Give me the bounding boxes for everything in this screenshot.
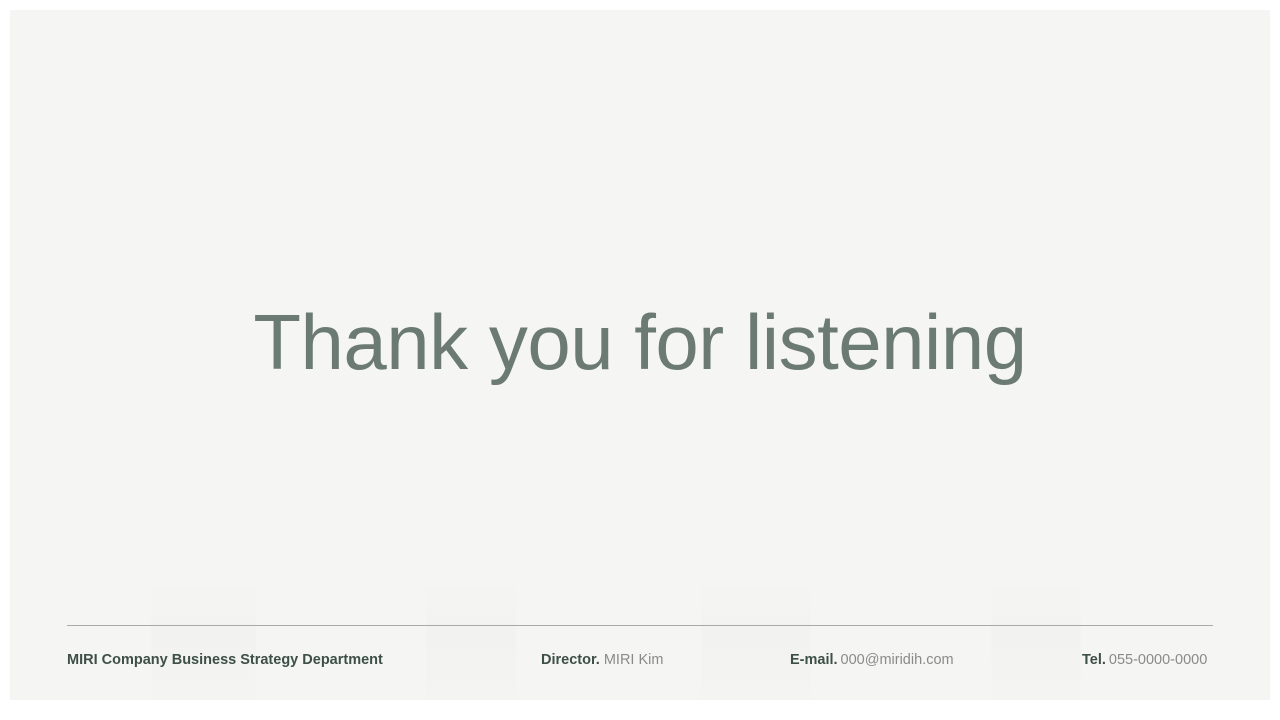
footer-organization-label: MIRI Company Business Strategy Departmen… [67,652,383,668]
footer-director-value: MIRI Kim [604,652,664,668]
footer-contact-row: MIRI Company Business Strategy Departmen… [67,647,1213,673]
background-pattern-decoration [10,580,1270,700]
slide-headline: Thank you for listening [10,302,1270,384]
footer-organization: MIRI Company Business Strategy Departmen… [67,647,383,673]
footer-tel: Tel.055-0000-0000 [1082,647,1207,673]
footer-email: E-mail.000@miridih.com [790,647,954,673]
footer-director-label: Director. [541,652,600,668]
slide-frame: Thank you for listening MIRI Company Bus… [0,0,1280,720]
footer-email-label: E-mail. [790,652,838,668]
footer-divider [67,625,1213,626]
footer-tel-label: Tel. [1082,652,1106,668]
footer-tel-value: 055-0000-0000 [1109,652,1207,668]
footer-director: Director.MIRI Kim [541,647,663,673]
footer-email-value[interactable]: 000@miridih.com [841,652,954,668]
background-pattern-fade [10,580,1270,700]
slide-canvas: Thank you for listening MIRI Company Bus… [10,10,1270,700]
